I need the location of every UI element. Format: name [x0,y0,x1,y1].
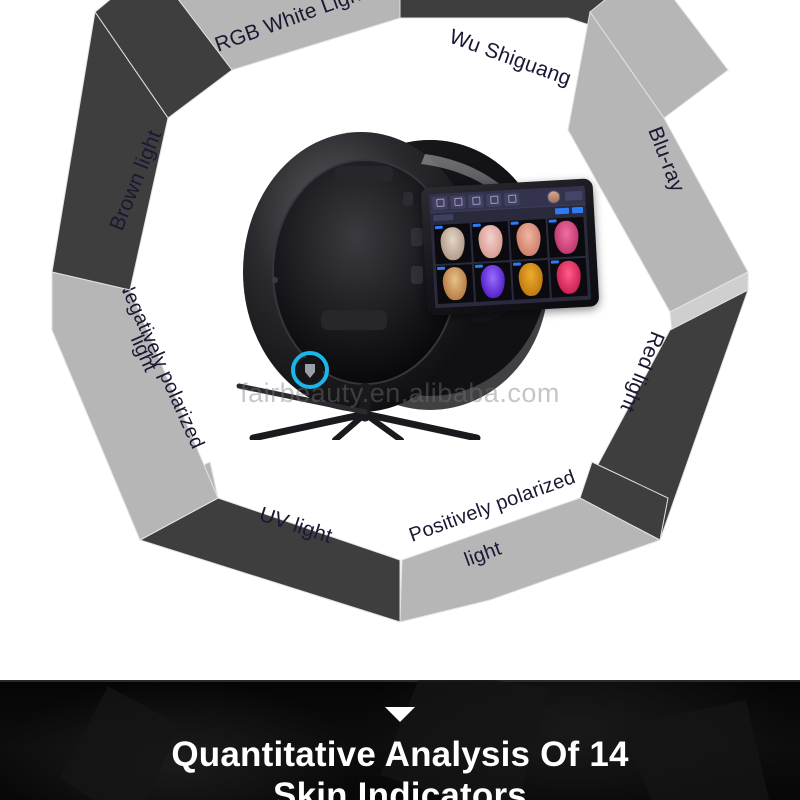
mode-tag [511,221,519,224]
toolbar-spacer [522,197,544,198]
face-thumb [518,262,543,296]
compare-icon[interactable] [468,194,484,208]
face-thumb [440,226,465,260]
mode-tag [551,260,559,263]
face-result-3[interactable] [510,219,548,259]
face-result-5[interactable] [436,264,474,304]
mode-tag [513,262,521,265]
product-banner-page: RGB White Light Wu Shiguang Blu-ray Red … [0,0,800,800]
banner-title-line1: Quantitative Analysis Of 14 [171,735,628,774]
mode-tag [549,219,557,222]
banner-title-line2: Skin Indicators [0,775,800,800]
avatar [547,190,561,204]
mode-tag [473,224,481,227]
tablet-display[interactable] [421,178,600,315]
face-result-6[interactable] [474,262,512,302]
hex-label-wu-shiguang: Wu Shiguang [446,25,574,90]
bottom-banner: Quantitative Analysis Of 14 Skin Indicat… [0,680,800,800]
face-result-8[interactable] [550,257,588,297]
face-thumb [480,265,505,299]
face-thumb [556,260,581,294]
face-thumb [554,220,579,254]
mode-tag [435,226,443,229]
patient-info-block [565,190,582,200]
action-button[interactable] [572,207,583,214]
face-thumb [478,224,503,258]
face-result-2[interactable] [472,221,510,261]
face-result-7[interactable] [512,259,550,299]
banner-title: Quantitative Analysis Of 14 Skin Indicat… [0,734,800,800]
subbar-spacer [456,212,552,217]
face-thumb [516,222,541,256]
home-icon[interactable] [432,196,448,210]
hex-segment-positively-polarized[interactable]: Positively polarized light [400,462,668,622]
grid-icon[interactable] [504,192,520,206]
face-results-grid[interactable] [431,215,592,309]
triangle-down-icon [385,707,415,722]
breadcrumb-chip [433,214,453,221]
mode-tag [475,264,483,267]
report-icon[interactable] [486,193,502,207]
hex-segment-negatively-polarized[interactable]: Negatively polarized light [52,272,218,540]
face-thumb [443,267,468,301]
banner-divider [0,680,800,682]
tablet-screen[interactable] [429,186,591,309]
light-modes-hexagon: RGB White Light Wu Shiguang Blu-ray Red … [0,0,800,680]
face-result-1[interactable] [434,223,472,263]
device-power-button[interactable] [293,353,327,387]
mode-toggle[interactable] [555,208,569,215]
mode-tag [437,266,445,269]
face-result-4[interactable] [547,217,585,257]
hex-segment-wu-shiguang[interactable]: Wu Shiguang [400,0,728,118]
camera-icon[interactable] [450,195,466,209]
